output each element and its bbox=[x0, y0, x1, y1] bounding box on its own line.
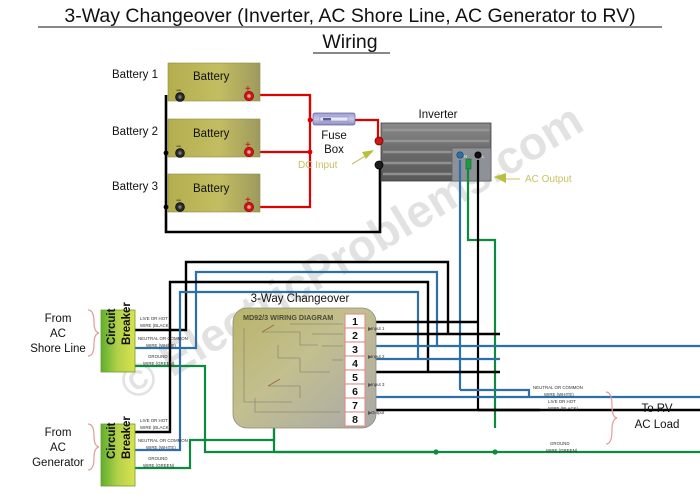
circuit-breaker-shore[interactable]: Circuit Breaker bbox=[101, 302, 135, 372]
load-neutral-label-1: NEUTRAL OR COMMON bbox=[533, 385, 583, 390]
terminal-5[interactable]: 5 bbox=[345, 370, 365, 384]
generator-neutral-label-1: NEUTRAL OR COMMON bbox=[138, 438, 188, 443]
changeover-terminal-strip: 1 2 3 4 5 6 7 8 bbox=[345, 314, 365, 426]
load-hot-label-1: LIVE OR HOT bbox=[548, 399, 576, 404]
generator-neutral-label-2: WIRE (WHITE) bbox=[146, 445, 176, 450]
shore-line-label-2: AC bbox=[50, 328, 66, 340]
dc-input-label: DC Input bbox=[298, 160, 338, 171]
generator-label-3: Generator bbox=[32, 457, 84, 469]
circuit-breaker-shore-label-2: Breaker bbox=[121, 302, 133, 345]
generator-hot-label-2: WIRE (BLACK) bbox=[140, 425, 171, 430]
terminal-7[interactable]: 7 bbox=[345, 398, 365, 412]
wiring-diagram-canvas: © ElectricProblems.com 3-Way Changeover … bbox=[0, 0, 700, 494]
rv-load-brace bbox=[606, 392, 617, 444]
battery-3-body-label: Battery bbox=[193, 183, 230, 195]
battery-1-body-label: Battery bbox=[193, 71, 230, 83]
generator-ground-label-1: GROUND bbox=[148, 456, 168, 461]
terminal-1[interactable]: 1 bbox=[345, 314, 365, 328]
shore-line-label-1: From bbox=[45, 313, 72, 325]
terminal-8[interactable]: 8 bbox=[345, 412, 365, 426]
terminal-8-number: 8 bbox=[352, 414, 358, 426]
inverter-terminal-l-label: L bbox=[482, 154, 485, 159]
page-title-line1: 3-Way Changeover (Inverter, AC Shore Lin… bbox=[64, 5, 635, 27]
shore-neutral-label-2: WIRE (WHITE) bbox=[146, 343, 176, 348]
battery-3: Battery Battery 3 − + bbox=[112, 174, 260, 212]
fuse-box: Fuse Box bbox=[313, 113, 355, 156]
battery-2-name: Battery 2 bbox=[112, 126, 158, 138]
diagram-svg: © ElectricProblems.com 3-Way Changeover … bbox=[0, 0, 700, 494]
battery-2: Battery Battery 2 − + bbox=[112, 119, 260, 157]
circuit-breaker-shore-label-1: Circuit bbox=[106, 308, 118, 345]
fuse-box-label-line2: Box bbox=[324, 144, 344, 156]
shore-hot-label-2: WIRE (BLACK) bbox=[140, 323, 171, 328]
rv-ac-load: NEUTRAL OR COMMON WIRE (WHITE) LIVE OR H… bbox=[533, 385, 679, 453]
inverter-ac-neutral-terminal bbox=[457, 152, 463, 158]
battery-2-body-label: Battery bbox=[193, 128, 230, 140]
inverter-ac-ground-terminal bbox=[466, 159, 471, 169]
shore-line-brace bbox=[88, 310, 99, 356]
port-label-input-2: Input 2 bbox=[371, 354, 385, 359]
terminal-1-number: 1 bbox=[352, 316, 358, 328]
generator-brace bbox=[88, 424, 99, 470]
inverter-label: Inverter bbox=[419, 109, 458, 121]
shore-ground-label-1: GROUND bbox=[148, 354, 168, 359]
terminal-4-number: 4 bbox=[352, 358, 358, 370]
shore-neutral-label-1: NEUTRAL OR COMMON bbox=[138, 336, 188, 341]
fuse-box-label-line1: Fuse bbox=[321, 130, 347, 142]
terminal-3-number: 3 bbox=[352, 344, 358, 356]
rv-load-label-1: To RV bbox=[641, 403, 672, 415]
changeover-title: 3-Way Changeover bbox=[251, 293, 350, 305]
terminal-2[interactable]: 2 bbox=[345, 328, 365, 342]
inverter-ac-line-terminal bbox=[475, 152, 481, 158]
circuit-breaker-generator[interactable]: Circuit Breaker bbox=[101, 416, 135, 486]
ac-output-label: AC Output bbox=[525, 174, 572, 185]
changeover-model-label: MD92/3 WIRING DIAGRAM bbox=[243, 313, 333, 322]
source-shore-line: From AC Shore Line Circuit Breaker LIVE … bbox=[30, 302, 188, 372]
shore-line-label-3: Shore Line bbox=[30, 343, 86, 355]
terminal-6-number: 6 bbox=[352, 386, 358, 398]
page-title-line2: Wiring bbox=[322, 31, 377, 53]
terminal-4[interactable]: 4 bbox=[345, 356, 365, 370]
terminal-5-number: 5 bbox=[352, 372, 358, 384]
inverter-dc-positive-terminal bbox=[375, 137, 383, 145]
load-hot-label-2: WIRE (BLACK) bbox=[548, 406, 579, 411]
generator-ground-label-2: WIRE (GREEN) bbox=[143, 463, 175, 468]
load-ground-label-1: GROUND bbox=[550, 441, 570, 446]
inverter-terminal-n-label: N bbox=[464, 154, 467, 159]
battery-3-name: Battery 3 bbox=[112, 181, 158, 193]
terminal-2-number: 2 bbox=[352, 330, 358, 342]
load-ground-label-2: WIRE (GREEN) bbox=[546, 448, 578, 453]
port-label-output: Output bbox=[371, 410, 385, 415]
generator-hot-label-1: LIVE OR HOT bbox=[140, 418, 168, 423]
port-label-input-1: Input 1 bbox=[371, 326, 385, 331]
battery-1: Battery Battery 1 − + bbox=[112, 63, 260, 101]
generator-label-1: From bbox=[45, 427, 72, 439]
rv-load-label-2: AC Load bbox=[635, 419, 680, 431]
terminal-7-number: 7 bbox=[352, 400, 358, 412]
inverter: Inverter N L bbox=[375, 109, 491, 181]
shore-hot-label-1: LIVE OR HOT bbox=[140, 316, 168, 321]
load-neutral-label-2: WIRE (WHITE) bbox=[544, 392, 574, 397]
terminal-6[interactable]: 6 bbox=[345, 384, 365, 398]
terminal-3[interactable]: 3 bbox=[345, 342, 365, 356]
inverter-dc-negative-terminal bbox=[375, 161, 383, 169]
port-label-input-3: Input 3 bbox=[371, 382, 385, 387]
shore-ground-label-2: WIRE (GREEN) bbox=[143, 361, 175, 366]
circuit-breaker-generator-label-2: Breaker bbox=[121, 416, 133, 459]
battery-1-name: Battery 1 bbox=[112, 69, 158, 81]
generator-label-2: AC bbox=[50, 442, 66, 454]
circuit-breaker-generator-label-1: Circuit bbox=[106, 422, 118, 459]
